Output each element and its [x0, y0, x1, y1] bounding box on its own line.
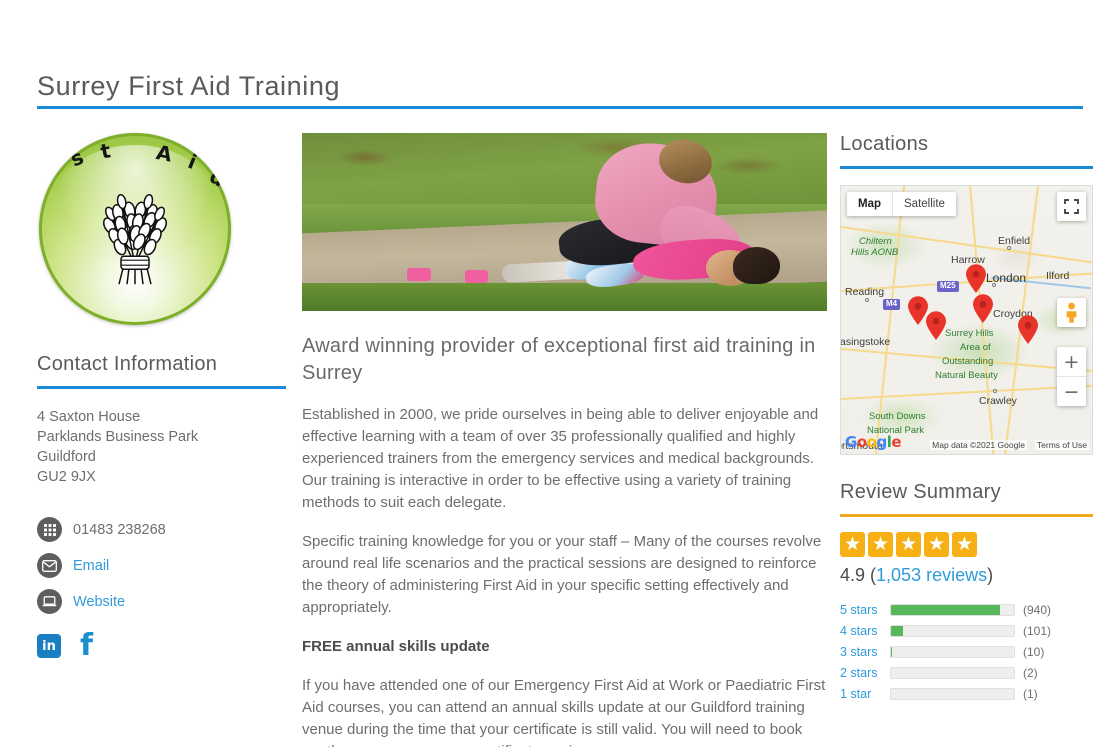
rating-bar-track — [890, 667, 1015, 679]
paragraph-3: If you have attended one of our Emergenc… — [302, 675, 827, 747]
map-attribution: Map data ©2021 Google Terms of Use — [930, 440, 1089, 450]
rating-bar-track — [890, 625, 1015, 637]
map-place-label: Surrey Hills — [945, 328, 994, 339]
contact-methods: 01483 238268 Email Web — [37, 513, 287, 618]
rating-bar-label[interactable]: 2 stars — [840, 666, 890, 680]
address-line-1: 4 Saxton House — [37, 407, 287, 427]
envelope-icon — [37, 553, 62, 578]
facebook-icon[interactable]: f — [80, 634, 93, 658]
rating-bar-track — [890, 688, 1015, 700]
business-profile-page: Surrey First Aid Training Surrey First A… — [0, 0, 1120, 747]
rating-bar-count: (2) — [1023, 666, 1038, 680]
hero-grass-lower — [302, 283, 827, 311]
rating-bar-label[interactable]: 5 stars — [840, 603, 890, 617]
rating-bar-track — [890, 646, 1015, 658]
rating-bar-track — [890, 604, 1015, 616]
hero-casualty-hair — [733, 247, 780, 284]
left-column: Surrey First Aid Training — [37, 133, 287, 658]
map-type-satellite[interactable]: Satellite — [893, 192, 956, 216]
map-location-pin[interactable] — [925, 311, 947, 341]
hero-sock-right — [465, 270, 489, 282]
paragraph-1: Established in 2000, we pride ourselves … — [302, 404, 827, 514]
rating-bar-row: 3 stars(10) — [840, 641, 1095, 662]
reviews-count-link[interactable]: 1,053 reviews — [876, 565, 987, 585]
map-place-label: Chiltern — [859, 236, 892, 247]
map-place-label: Hills AONB — [851, 247, 898, 258]
logo-ring-letter: d — [205, 164, 230, 192]
hero-photo — [302, 133, 827, 311]
wheat-sheaf-icon — [83, 176, 187, 286]
paragraph-2: Specific training knowledge for you or y… — [302, 531, 827, 619]
map-city-dot — [865, 298, 869, 302]
rating-bar-count: (101) — [1023, 624, 1051, 638]
map-motorway-shield: M25 — [937, 281, 959, 292]
logo-ring-letter: r — [40, 158, 61, 184]
logo-ring-letter: A — [154, 140, 174, 167]
rating-line: 4.9 (1,053 reviews) — [840, 565, 1095, 586]
map-city-dot — [1007, 246, 1011, 250]
lead-heading: Award winning provider of exceptional fi… — [302, 333, 827, 387]
contact-heading: Contact Information — [37, 353, 287, 376]
map-place-label: Crawley — [979, 395, 1017, 407]
phone-row: 01483 238268 — [37, 513, 287, 546]
rating-bar-label[interactable]: 3 stars — [840, 645, 890, 659]
laptop-icon — [37, 589, 62, 614]
company-logo: Surrey First Aid Training — [39, 133, 231, 325]
map-place-label: Area of — [960, 342, 991, 353]
website-link[interactable]: Website — [73, 594, 125, 610]
paren-close: ) — [987, 565, 993, 585]
reviews-divider — [840, 514, 1093, 517]
reviews-heading: Review Summary — [840, 481, 1095, 504]
logo-ring-letter: s — [67, 145, 87, 172]
rating-bar-row: 4 stars(101) — [840, 620, 1095, 641]
locations-divider — [840, 166, 1093, 169]
review-summary: Review Summary ★★★★★ 4.9 (1,053 reviews)… — [840, 481, 1095, 704]
map-city-dot — [992, 283, 996, 287]
map-place-label: Reading — [845, 286, 884, 298]
logo-ring-letter: i — [185, 149, 200, 174]
street-view-pegman-icon[interactable] — [1057, 298, 1086, 327]
rating-bar-row: 5 stars(940) — [840, 599, 1095, 620]
map-location-pin[interactable] — [965, 264, 987, 294]
rating-value: 4.9 — [840, 565, 865, 585]
rating-bar-count: (1) — [1023, 687, 1038, 701]
google-map[interactable]: AylesburyChilternHills AONBHarrowEnfield… — [840, 185, 1093, 455]
rating-bar-count: (940) — [1023, 603, 1051, 617]
hero-grass-upper — [302, 133, 827, 215]
map-place-label: Natural Beauty — [935, 370, 998, 381]
star-icon: ★ — [896, 532, 921, 557]
email-row[interactable]: Email — [37, 549, 287, 582]
google-logo: Google — [845, 433, 901, 451]
star-icon: ★ — [952, 532, 977, 557]
map-type-map[interactable]: Map — [847, 192, 892, 216]
logo-ring-letter: t — [99, 138, 113, 163]
star-icon: ★ — [868, 532, 893, 557]
star-icon: ★ — [924, 532, 949, 557]
star-icon: ★ — [840, 532, 865, 557]
hero-sock-left — [407, 268, 431, 280]
zoom-in-button[interactable]: + — [1057, 347, 1086, 376]
address-line-2: Parklands Business Park — [37, 427, 287, 447]
website-row[interactable]: Website — [37, 585, 287, 618]
linkedin-icon[interactable]: in — [37, 634, 61, 658]
address-block: 4 Saxton House Parklands Business Park G… — [37, 407, 287, 487]
address-line-3: Guildford — [37, 447, 287, 467]
rating-bar-fill — [891, 605, 1000, 615]
map-data-text: Map data ©2021 Google — [930, 440, 1027, 450]
map-location-pin[interactable] — [972, 294, 994, 324]
fullscreen-icon[interactable] — [1057, 192, 1086, 221]
map-location-pin[interactable] — [1017, 315, 1039, 345]
map-type-toggle[interactable]: Map Satellite — [847, 192, 956, 216]
right-sidebar: Locations AylesburyChilternHills AONBHar… — [840, 133, 1095, 704]
map-zoom-controls[interactable]: + − — [1057, 347, 1086, 406]
rating-breakdown: 5 stars(940)4 stars(101)3 stars(10)2 sta… — [840, 599, 1095, 704]
social-links: in f — [37, 634, 287, 658]
map-place-label: Ilford — [1046, 270, 1069, 282]
map-motorway-shield: M4 — [883, 299, 900, 310]
rating-bar-row: 1 star(1) — [840, 683, 1095, 704]
paren-open: ( — [865, 565, 876, 585]
map-place-label: South Downs — [869, 411, 926, 422]
page-title: Surrey First Aid Training — [37, 72, 340, 102]
star-rating: ★★★★★ — [840, 532, 1095, 557]
map-place-label: Basingstoke — [840, 336, 890, 348]
map-place-label: Enfield — [998, 235, 1030, 247]
rating-bar-fill — [891, 647, 892, 657]
title-divider — [37, 106, 1083, 109]
terms-of-use-link[interactable]: Terms of Use — [1035, 440, 1089, 450]
map-city-dot — [993, 389, 997, 393]
phone-keypad-icon — [37, 517, 62, 542]
phone-number: 01483 238268 — [73, 522, 166, 538]
email-link[interactable]: Email — [73, 558, 109, 574]
contact-divider — [37, 386, 286, 389]
zoom-out-button[interactable]: − — [1057, 377, 1086, 406]
map-place-label: Outstanding — [942, 356, 993, 367]
rating-bar-label[interactable]: 4 stars — [840, 624, 890, 638]
rating-bar-count: (10) — [1023, 645, 1044, 659]
free-update-subheading: FREE annual skills update — [302, 636, 827, 658]
rating-bar-label[interactable]: 1 star — [840, 687, 890, 701]
rating-bar-row: 2 stars(2) — [840, 662, 1095, 683]
locations-heading: Locations — [840, 133, 1095, 156]
main-content: Award winning provider of exceptional fi… — [302, 133, 827, 747]
rating-bar-fill — [891, 626, 903, 636]
address-line-4: GU2 9JX — [37, 467, 287, 487]
